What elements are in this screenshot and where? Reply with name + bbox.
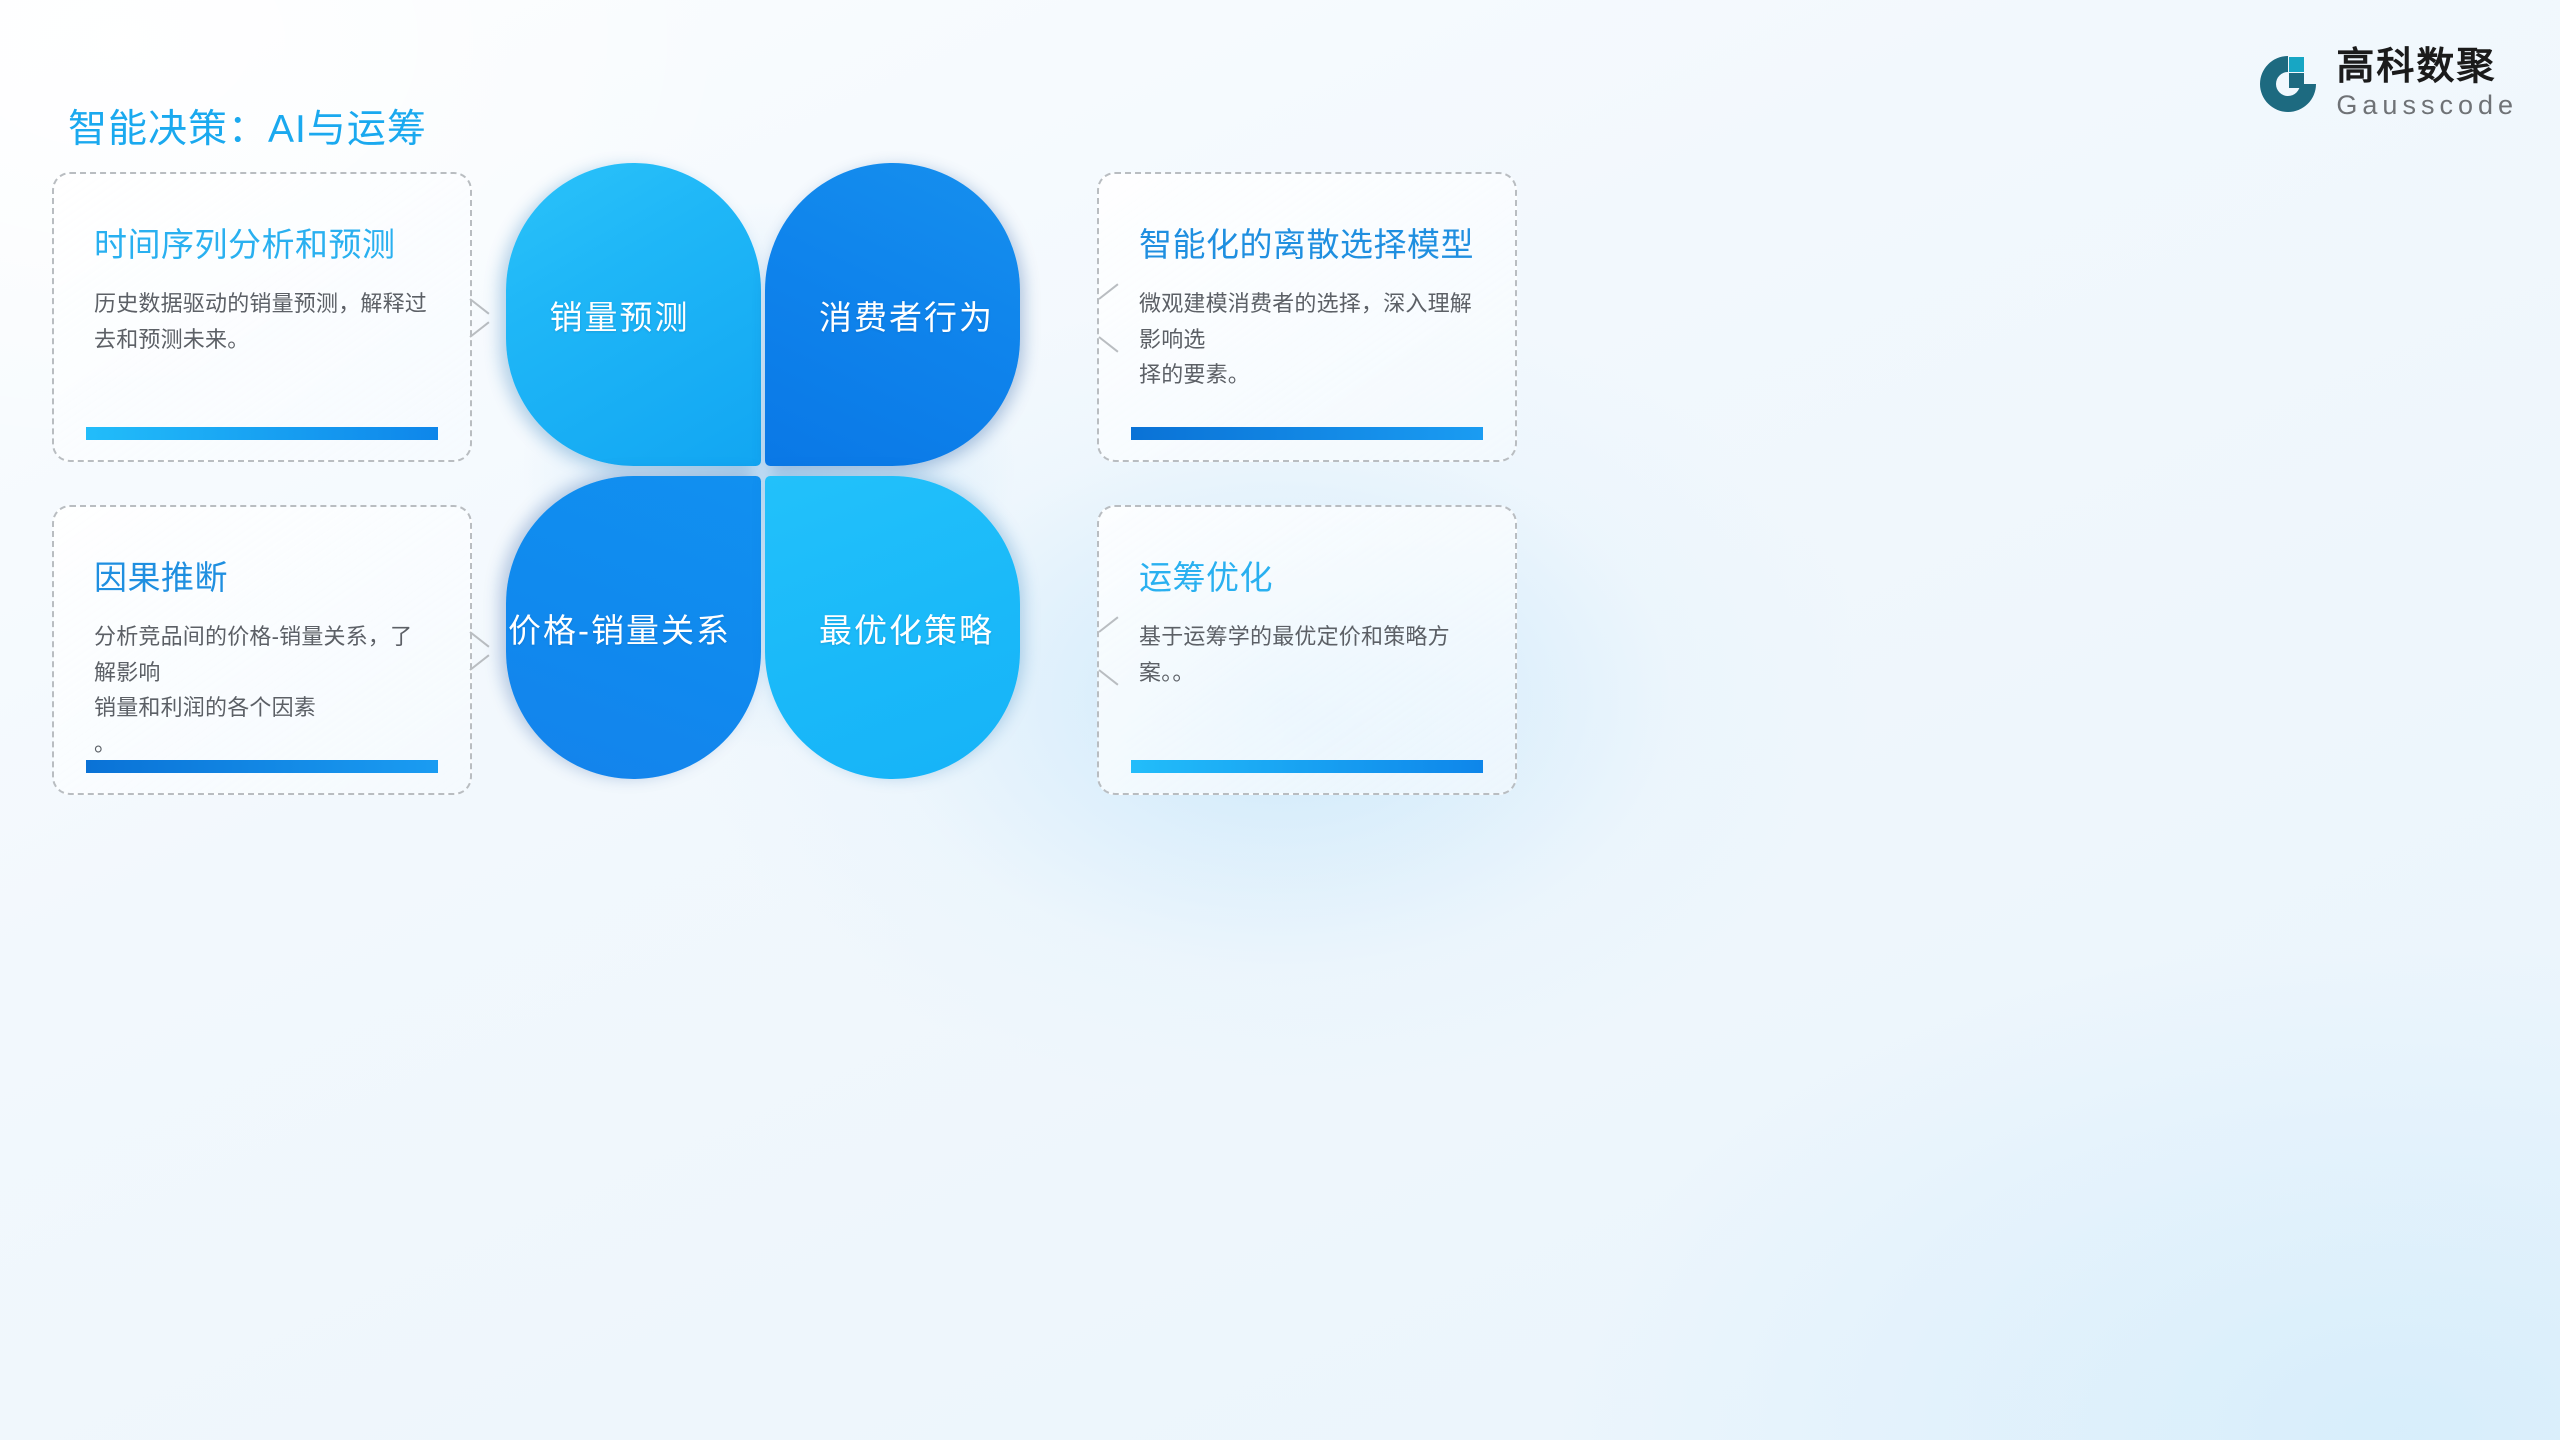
- page-title: 智能决策：AI与运筹: [68, 98, 427, 154]
- card-accent-bar: [1131, 760, 1483, 773]
- petal-label: 价格-销量关系: [508, 604, 731, 652]
- card-accent-bar: [1131, 427, 1483, 440]
- quadrant-flower-diagram: 销量预测 消费者行为 价格-销量关系 最优化策略: [506, 163, 1031, 788]
- brand-logo: 高科数聚 Gausscode: [2256, 48, 2518, 119]
- card-operations-optimization[interactable]: 运筹优化 基于运筹学的最优定价和策略方案。。: [1097, 505, 1517, 795]
- card-title: 因果推断: [94, 551, 430, 599]
- card-body: 微观建模消费者的选择，深入理解影响选 择的要素。: [1139, 286, 1475, 393]
- card-body: 基于运筹学的最优定价和策略方案。。: [1139, 619, 1475, 690]
- petal-top-right[interactable]: 消费者行为: [765, 163, 1020, 466]
- card-title: 时间序列分析和预测: [94, 218, 430, 266]
- petal-label: 销量预测: [550, 291, 690, 339]
- petal-top-left[interactable]: 销量预测: [506, 163, 761, 466]
- slide-canvas: 智能决策：AI与运筹 高科数聚 Gausscode 时间序列分析和预测 历史数据…: [0, 0, 2560, 1440]
- card-discrete-choice[interactable]: 智能化的离散选择模型 微观建模消费者的选择，深入理解影响选 择的要素。: [1097, 172, 1517, 462]
- petal-bottom-right[interactable]: 最优化策略: [765, 476, 1020, 779]
- card-title: 运筹优化: [1139, 551, 1475, 599]
- card-time-series[interactable]: 时间序列分析和预测 历史数据驱动的销量预测，解释过去和预测未来。: [52, 172, 472, 462]
- card-body: 分析竞品间的价格-销量关系，了解影响 销量和利润的各个因素 。: [94, 619, 430, 762]
- connector-chevron-left-icon: [1073, 631, 1099, 671]
- petal-bottom-left[interactable]: 价格-销量关系: [506, 476, 761, 779]
- connector-chevron-right-icon: [470, 631, 496, 671]
- logo-text-cn: 高科数聚: [2336, 48, 2518, 86]
- card-title: 智能化的离散选择模型: [1139, 218, 1475, 266]
- petal-label: 消费者行为: [819, 291, 994, 339]
- card-accent-bar: [86, 427, 438, 440]
- petal-label: 最优化策略: [819, 604, 994, 652]
- card-body: 历史数据驱动的销量预测，解释过去和预测未来。: [94, 286, 430, 357]
- logo-text-en: Gausscode: [2336, 92, 2518, 119]
- card-accent-bar: [86, 760, 438, 773]
- connector-chevron-right-icon: [470, 298, 496, 338]
- gausscode-g-mark-icon: [2256, 52, 2320, 116]
- card-causal-inference[interactable]: 因果推断 分析竞品间的价格-销量关系，了解影响 销量和利润的各个因素 。: [52, 505, 472, 795]
- connector-chevron-left-icon: [1073, 298, 1099, 338]
